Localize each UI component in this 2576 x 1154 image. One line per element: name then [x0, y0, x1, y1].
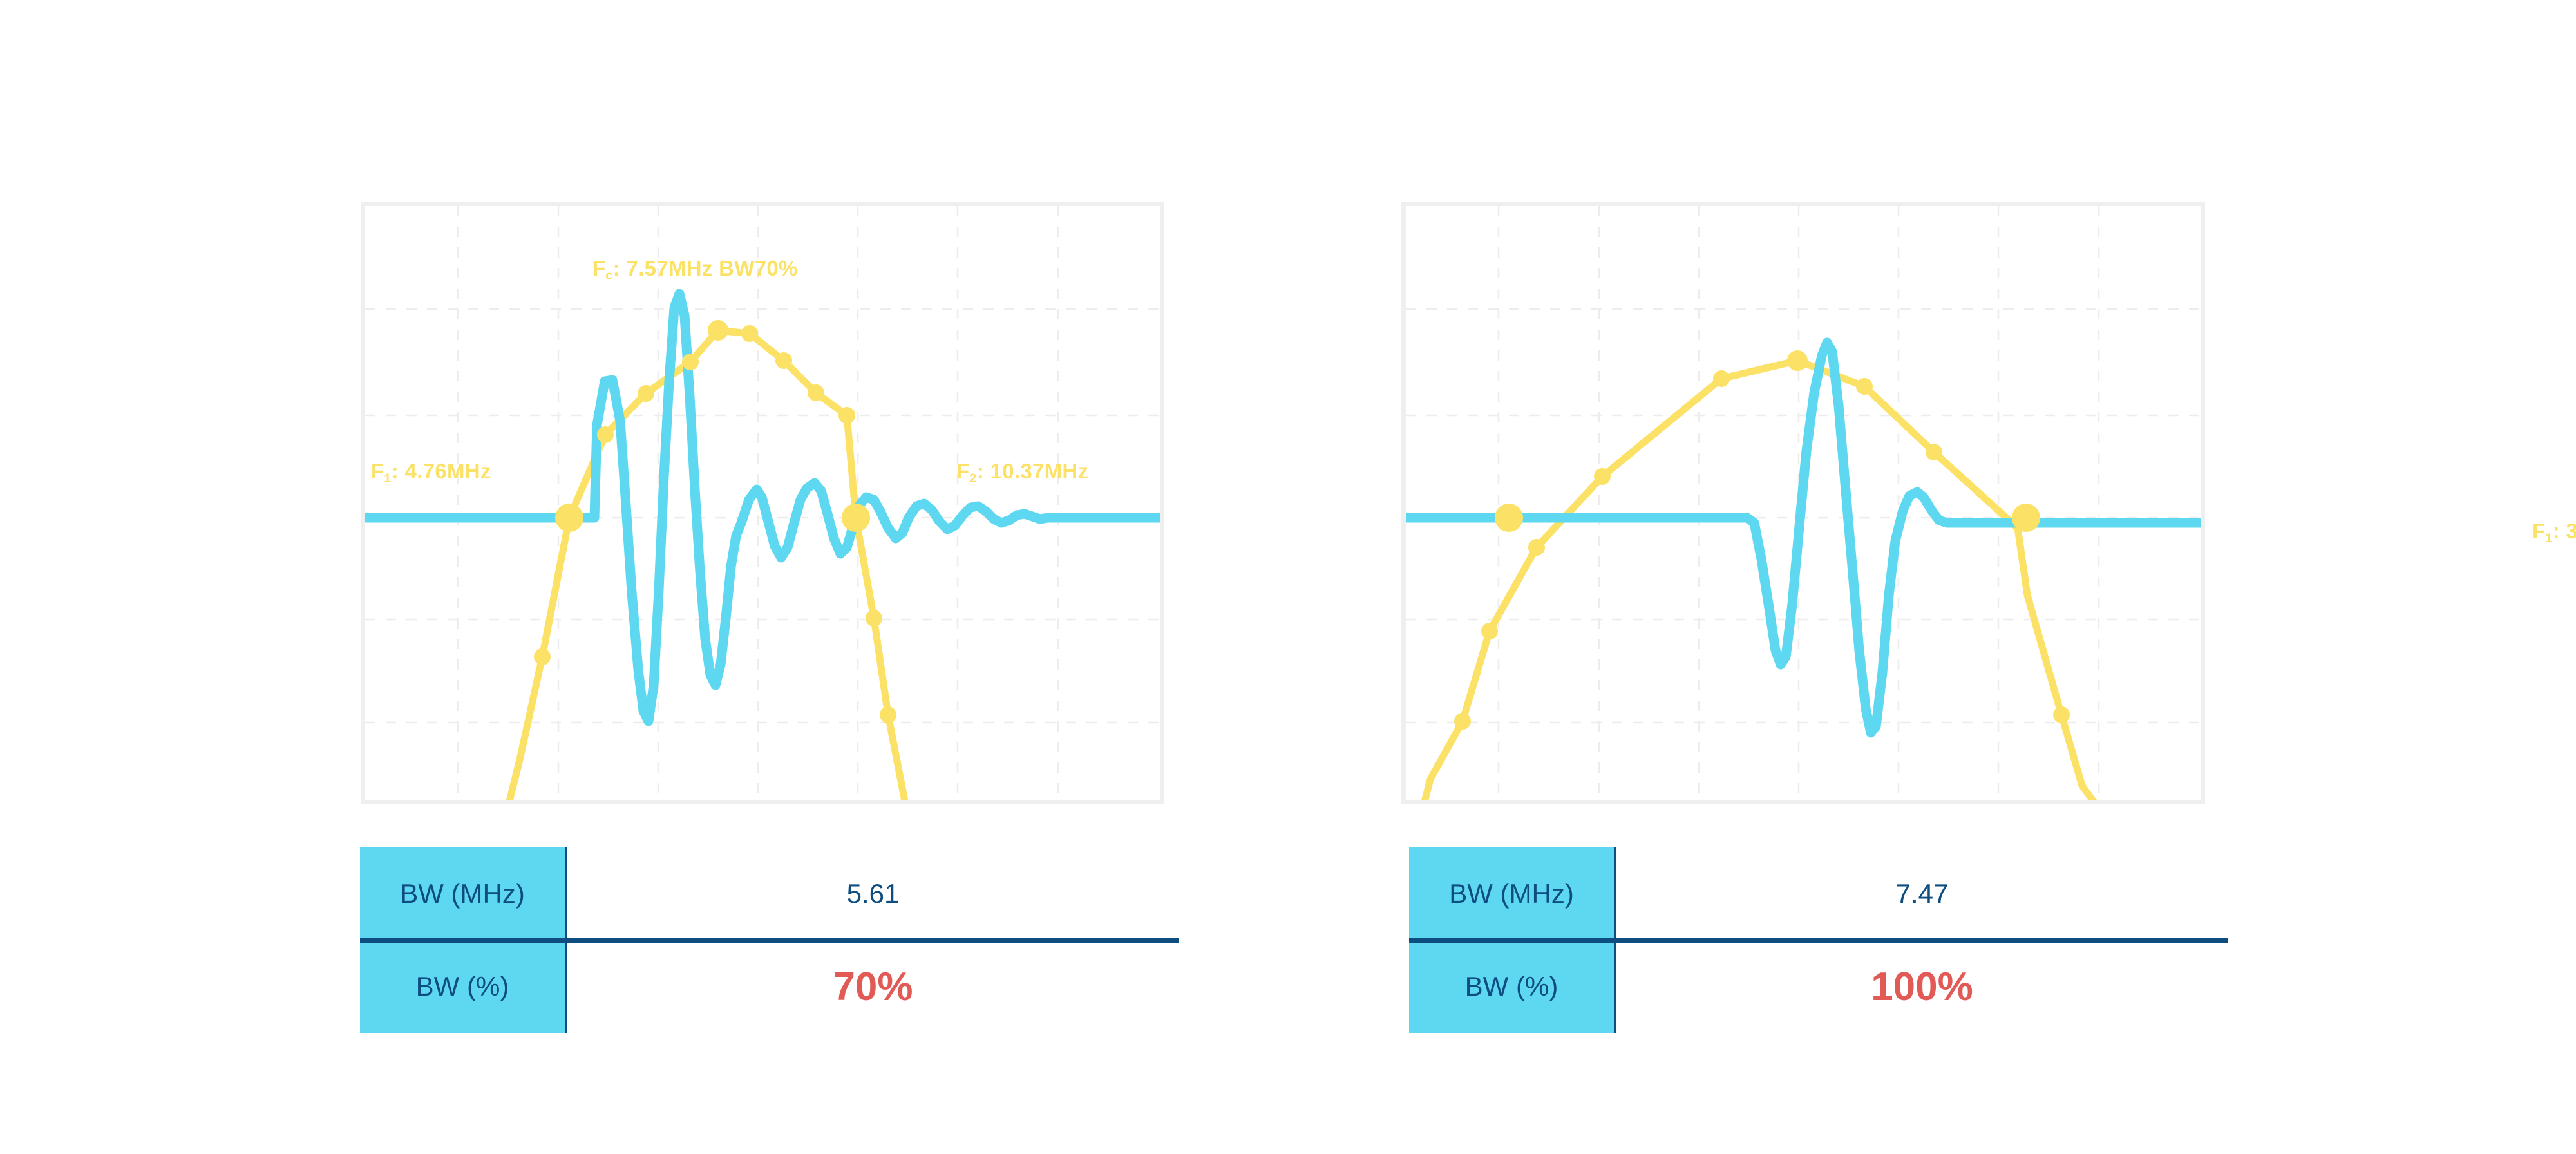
- result-table-bw100: BW (MHz) 7.47 BW (%) 100%: [1409, 847, 2228, 1033]
- annotation-text: : 7.57MHz BW70%: [613, 256, 798, 280]
- chart-frame-bw100: [1401, 202, 2205, 804]
- table-mid-rule: [1409, 938, 2228, 943]
- spectrum-curve-bw70: [504, 330, 909, 800]
- annotation-symbol: F: [2532, 519, 2545, 543]
- table-header-bandwidth-percent: BW (%): [360, 940, 567, 1033]
- annotation-subscript: 1: [384, 471, 391, 486]
- table-header-bandwidth-mhz: BW (MHz): [360, 847, 567, 940]
- figure-canvas: Fc: 7.57MHz BW70% F1: 4.76MHz F2: 10.37M…: [0, 0, 2576, 1154]
- annotation-subscript: c: [605, 269, 612, 283]
- panel-bw100: Fc: 7.47MHz BW100% F1: 3.73MHz F2: 11.21…: [1041, 0, 2329, 1154]
- annotation-subscript: 2: [969, 471, 976, 486]
- annotation-symbol: F: [592, 256, 605, 280]
- annotation-symbol: F: [956, 459, 969, 483]
- annotation-text: : 4.76MHz: [392, 459, 491, 483]
- spectrum-data-points-bw100: [1454, 350, 2157, 800]
- annotation-subscript: 1: [2545, 531, 2552, 545]
- annotation-lower-frequency-bw70: F1: 4.76MHz: [371, 460, 491, 482]
- annotation-lower-frequency-bw100: F1: 3.73MHz: [2532, 520, 2576, 542]
- pulse-waveform-bw100: [1406, 343, 2201, 733]
- annotation-text: : 3.73MHz: [2553, 519, 2576, 543]
- table-value-bandwidth-mhz: 7.47: [1616, 847, 2228, 940]
- table-row: BW (MHz) 7.47: [1409, 847, 2228, 940]
- plot-area-bw100: [1406, 206, 2201, 800]
- annotation-center-frequency-bw70: Fc: 7.57MHz BW70%: [592, 258, 798, 279]
- table-row: BW (%) 100%: [1409, 940, 2228, 1033]
- chart-svg-bw100: [1406, 206, 2201, 800]
- table-header-bandwidth-percent: BW (%): [1409, 940, 1616, 1033]
- table-header-bandwidth-mhz: BW (MHz): [1409, 847, 1616, 940]
- table-value-bandwidth-percent: 100%: [1616, 940, 2228, 1033]
- annotation-symbol: F: [371, 459, 384, 483]
